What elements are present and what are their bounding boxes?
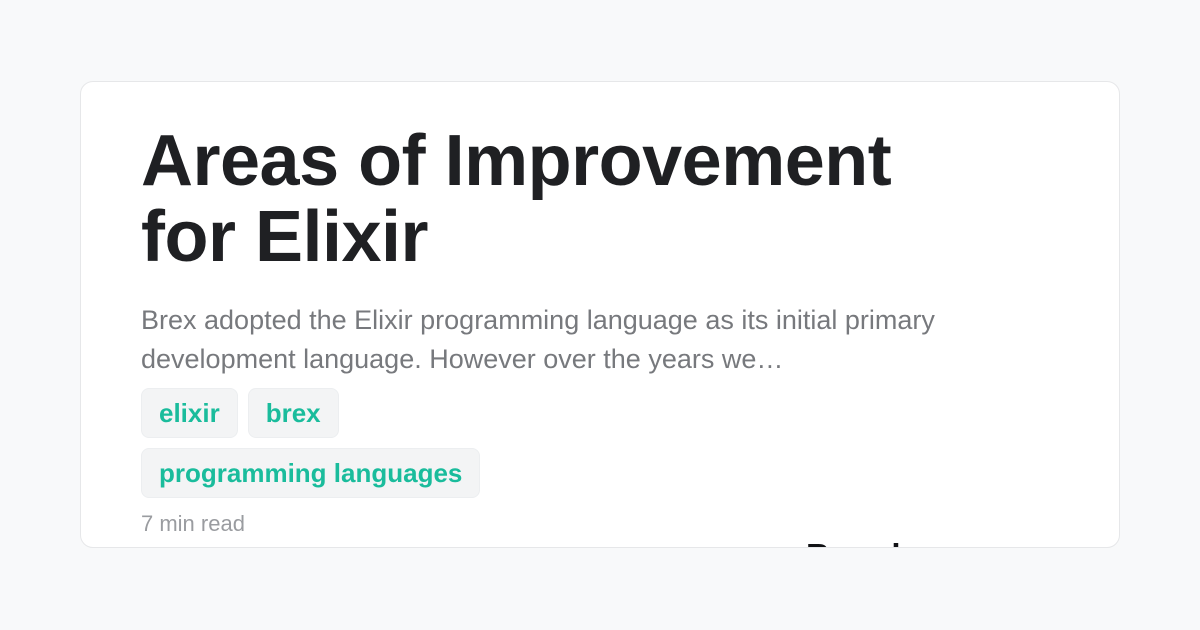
brand-name: Bored [806, 537, 1106, 548]
post-description: Brex adopted the Elixir programming lang… [141, 275, 1031, 379]
tag-elixir[interactable]: elixir [141, 388, 238, 438]
tag-list: elixir brex programming languages [141, 379, 541, 498]
tag-programming-languages[interactable]: programming languages [141, 448, 480, 498]
card-content: Areas of Improvement for Elixir Brex ado… [81, 82, 1120, 538]
read-time-label: 7 min read [141, 498, 1061, 538]
page-title: Areas of Improvement for Elixir [141, 82, 971, 275]
tag-brex[interactable]: brex [248, 388, 339, 438]
brand-block: Bored <Hacking/> [806, 537, 1106, 548]
post-preview-card[interactable]: Areas of Improvement for Elixir Brex ado… [80, 81, 1120, 548]
og-card-root: Areas of Improvement for Elixir Brex ado… [0, 0, 1200, 630]
